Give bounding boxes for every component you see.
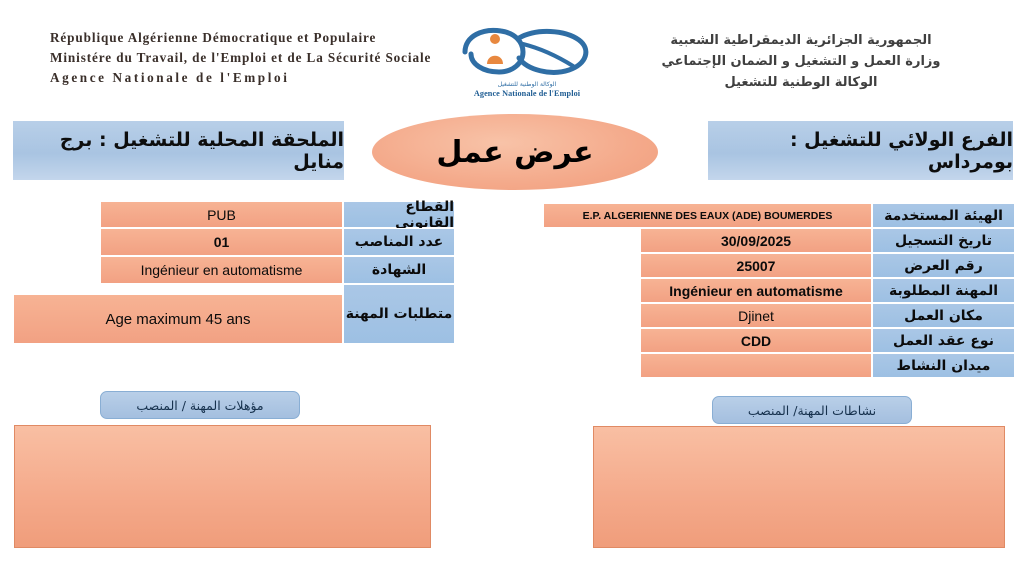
local-office-banner: الملحقة المحلية للتشغيل : برج منايل <box>12 120 345 181</box>
activities-caption: نشاطات المهنة/ المنصب <box>712 396 912 424</box>
condition-value-positions-count: 01 <box>100 228 343 256</box>
condition-value-diploma: Ingénieur en automatisme <box>100 256 343 284</box>
header-french-line-1: République Algérienne Démocratique et Po… <box>50 28 450 48</box>
header-arabic-block: الجمهورية الجزائرية الديمقراطية الشعبية … <box>586 30 1016 93</box>
condition-label-legal-sector: القطاع القانوني <box>343 201 455 228</box>
anem-logo-arabic-caption: الوكالة الوطنية للتشغيل <box>452 81 602 88</box>
header-french-line-2: Ministére du Travail, de l'Emploi et de … <box>50 48 450 68</box>
offer-value-activity-field <box>640 353 872 378</box>
document-title-ellipse: عرض عمل <box>372 114 658 190</box>
condition-label-positions-count: عدد المناصب <box>343 228 455 256</box>
condition-value-legal-sector: PUB <box>100 201 343 228</box>
offer-label-activity-field: ميدان النشاط <box>872 353 1015 378</box>
offer-label-registration-date: تاريخ التسجيل <box>872 228 1015 253</box>
offer-value-registration-date: 30/09/2025 <box>640 228 872 253</box>
condition-label-diploma: الشهادة <box>343 256 455 284</box>
offer-label-employer: الهيئة المستخدمة <box>872 203 1015 228</box>
condition-value-job-requirements: Age maximum 45 ans <box>13 294 343 344</box>
activities-body <box>593 426 1005 548</box>
offer-label-work-place: مكان العمل <box>872 303 1015 328</box>
header-arabic-line-2: وزارة العمل و التشغيل و الضمان الإجتماعي <box>586 51 1016 72</box>
qualifications-caption: مؤهلات المهنة / المنصب <box>100 391 300 419</box>
offer-value-offer-number: 25007 <box>640 253 872 278</box>
wilaya-office-banner: الفرع الولائي للتشغيل : بومرداس <box>707 120 1014 181</box>
offer-value-work-place: Djinet <box>640 303 872 328</box>
offer-label-offer-number: رقم العرض <box>872 253 1015 278</box>
header-french-block: République Algérienne Démocratique et Po… <box>50 28 450 88</box>
offer-value-requested-job: Ingénieur en automatisme <box>640 278 872 303</box>
anem-logo-french-caption: Agence Nationale de l'Emploi <box>452 89 602 98</box>
anem-logo: الوكالة الوطنية للتشغيل Agence Nationale… <box>452 22 602 104</box>
qualifications-body <box>14 425 431 548</box>
job-offer-document: République Algérienne Démocratique et Po… <box>0 0 1024 576</box>
offer-value-employer: E.P. ALGERIENNE DES EAUX (ADE) BOUMERDES <box>543 203 872 228</box>
condition-label-job-requirements: متطلبات المهنة <box>343 284 455 344</box>
offer-label-contract-type: نوع عقد العمل <box>872 328 1015 353</box>
header-french-line-3: Agence Nationale de l'Emploi <box>50 68 450 88</box>
anem-logo-mark <box>457 22 597 80</box>
header-arabic-line-3: الوكالة الوطنية للتشغيل <box>586 72 1016 93</box>
header-arabic-line-1: الجمهورية الجزائرية الديمقراطية الشعبية <box>586 30 1016 51</box>
offer-label-requested-job: المهنة المطلوبة <box>872 278 1015 303</box>
offer-value-contract-type: CDD <box>640 328 872 353</box>
